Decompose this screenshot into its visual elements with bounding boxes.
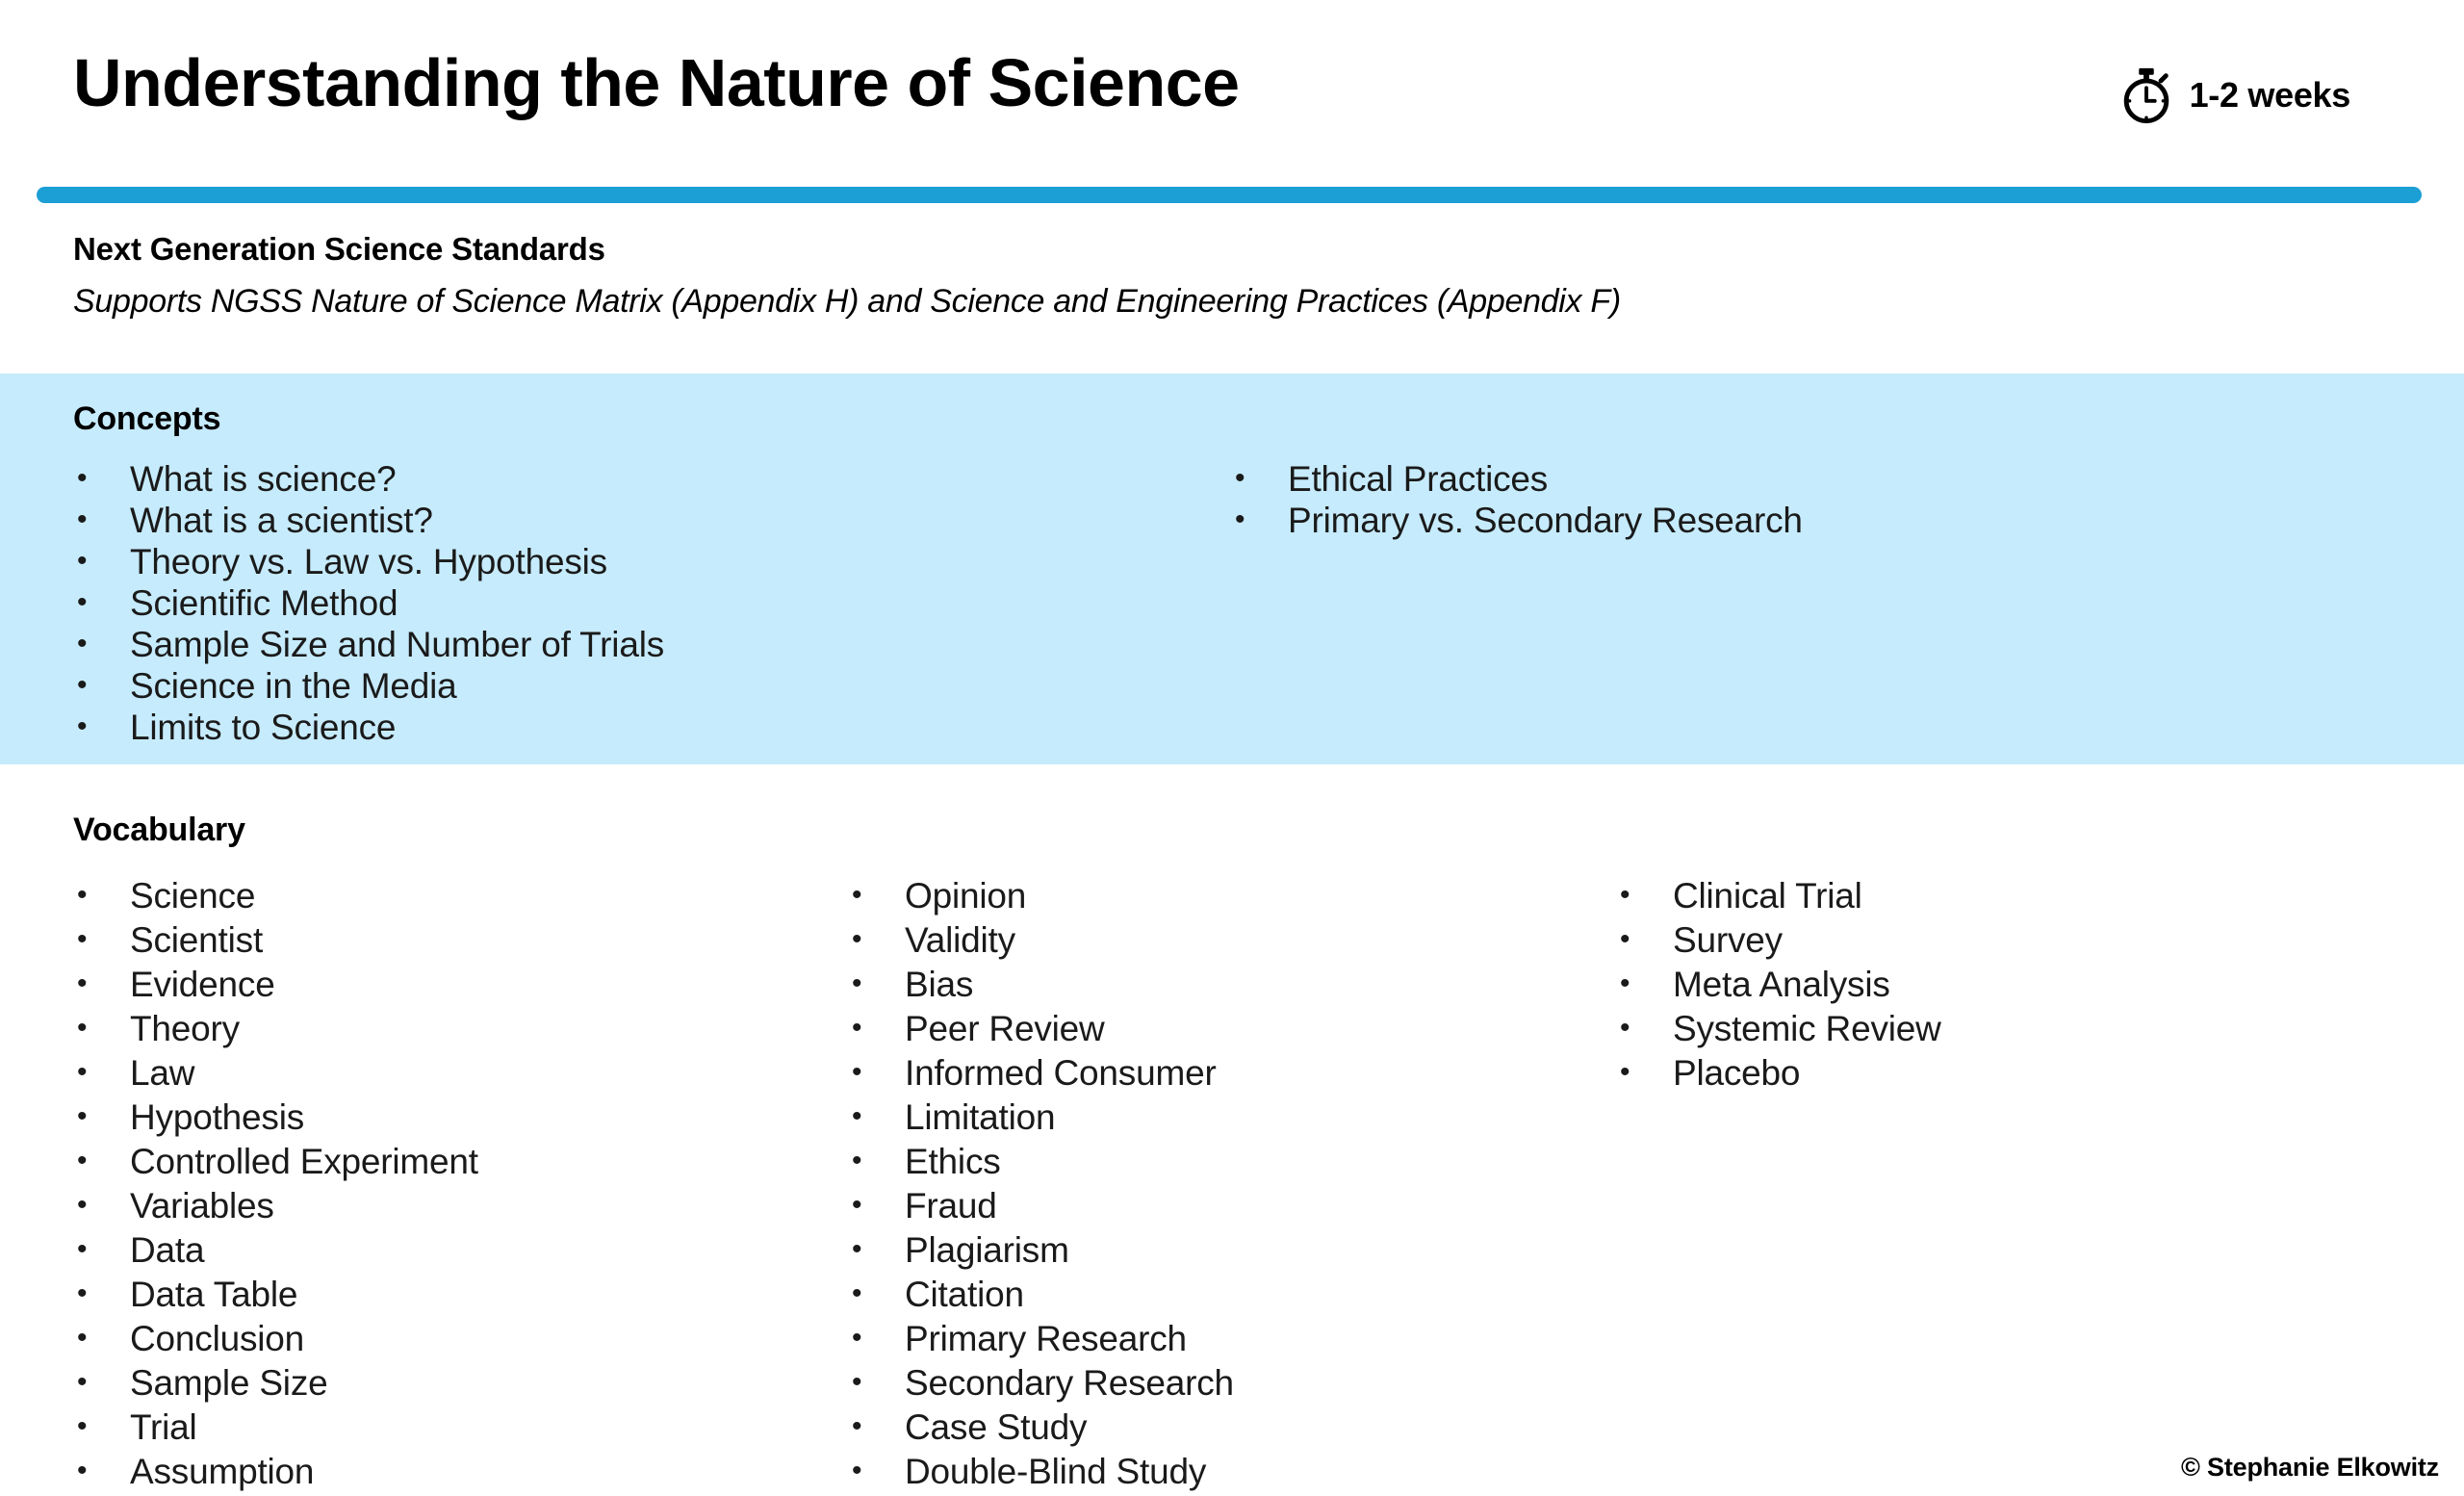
page-title: Understanding the Nature of Science [73,48,1240,119]
list-item: Sample Size [77,1361,478,1406]
concepts-column-right: Ethical PracticesPrimary vs. Secondary R… [1235,458,1803,541]
concepts-list-left: What is science?What is a scientist?Theo… [77,458,664,748]
vocabulary-list-1: ScienceScientistEvidenceTheoryLawHypothe… [77,874,478,1494]
concepts-list-right: Ethical PracticesPrimary vs. Secondary R… [1235,458,1803,541]
list-item: Assumption [77,1450,478,1494]
list-item: Primary Research [852,1317,1234,1361]
copyright-notice: © Stephanie Elkowitz [2181,1453,2439,1483]
concepts-section: Concepts What is science?What is a scien… [0,374,2464,764]
vocabulary-column-1: ScienceScientistEvidenceTheoryLawHypothe… [77,874,478,1494]
list-item: Limitation [852,1096,1234,1140]
list-item: Clinical Trial [1620,874,1941,918]
list-item: Placebo [1620,1051,1941,1096]
list-item: What is a scientist? [77,500,664,541]
list-item: Theory [77,1007,478,1051]
list-item: Opinion [852,874,1234,918]
vocabulary-column-3: Clinical TrialSurveyMeta AnalysisSystemi… [1620,874,1941,1096]
list-item: Scientific Method [77,582,664,624]
list-item: Meta Analysis [1620,963,1941,1007]
list-item: Controlled Experiment [77,1140,478,1184]
concepts-heading: Concepts [73,400,220,438]
list-item: What is science? [77,458,664,500]
list-item: Validity [852,918,1234,963]
list-item: Sample Size and Number of Trials [77,624,664,665]
list-item: Science in the Media [77,665,664,707]
list-item: Limits to Science [77,707,664,748]
list-item: Primary vs. Secondary Research [1235,500,1803,541]
list-item: Case Study [852,1406,1234,1450]
list-item: Data Table [77,1273,478,1317]
standards-title: Next Generation Science Standards [73,231,2287,268]
list-item: Secondary Research [852,1361,1234,1406]
list-item: Citation [852,1273,1234,1317]
list-item: Data [77,1228,478,1273]
duration-badge: 1-2 weeks [2117,65,2350,125]
header-divider-bar [37,187,2422,203]
concepts-column-left: What is science?What is a scientist?Theo… [77,458,664,748]
slide-root: Understanding the Nature of Science 1-2 … [0,0,2464,1496]
vocabulary-heading: Vocabulary [73,812,245,849]
list-item: Hypothesis [77,1096,478,1140]
list-item: Plagiarism [852,1228,1234,1273]
list-item: Ethics [852,1140,1234,1184]
list-item: Evidence [77,963,478,1007]
standards-subtitle: Supports NGSS Nature of Science Matrix (… [73,283,2287,321]
list-item: Informed Consumer [852,1051,1234,1096]
list-item: Double-Blind Study [852,1450,1234,1494]
duration-label: 1-2 weeks [2190,75,2350,116]
list-item: Bias [852,963,1234,1007]
list-item: Variables [77,1184,478,1228]
list-item: Conclusion [77,1317,478,1361]
list-item: Science [77,874,478,918]
list-item: Scientist [77,918,478,963]
list-item: Fraud [852,1184,1234,1228]
list-item: Law [77,1051,478,1096]
vocabulary-list-3: Clinical TrialSurveyMeta AnalysisSystemi… [1620,874,1941,1096]
list-item: Theory vs. Law vs. Hypothesis [77,541,664,582]
slide-header: Understanding the Nature of Science 1-2 … [0,0,2464,183]
list-item: Trial [77,1406,478,1450]
stopwatch-icon [2117,65,2176,125]
list-item: Peer Review [852,1007,1234,1051]
list-item: Ethical Practices [1235,458,1803,500]
standards-section: Next Generation Science Standards Suppor… [73,231,2287,321]
vocabulary-column-2: OpinionValidityBiasPeer ReviewInformed C… [852,874,1234,1494]
list-item: Survey [1620,918,1941,963]
list-item: Systemic Review [1620,1007,1941,1051]
vocabulary-list-2: OpinionValidityBiasPeer ReviewInformed C… [852,874,1234,1494]
